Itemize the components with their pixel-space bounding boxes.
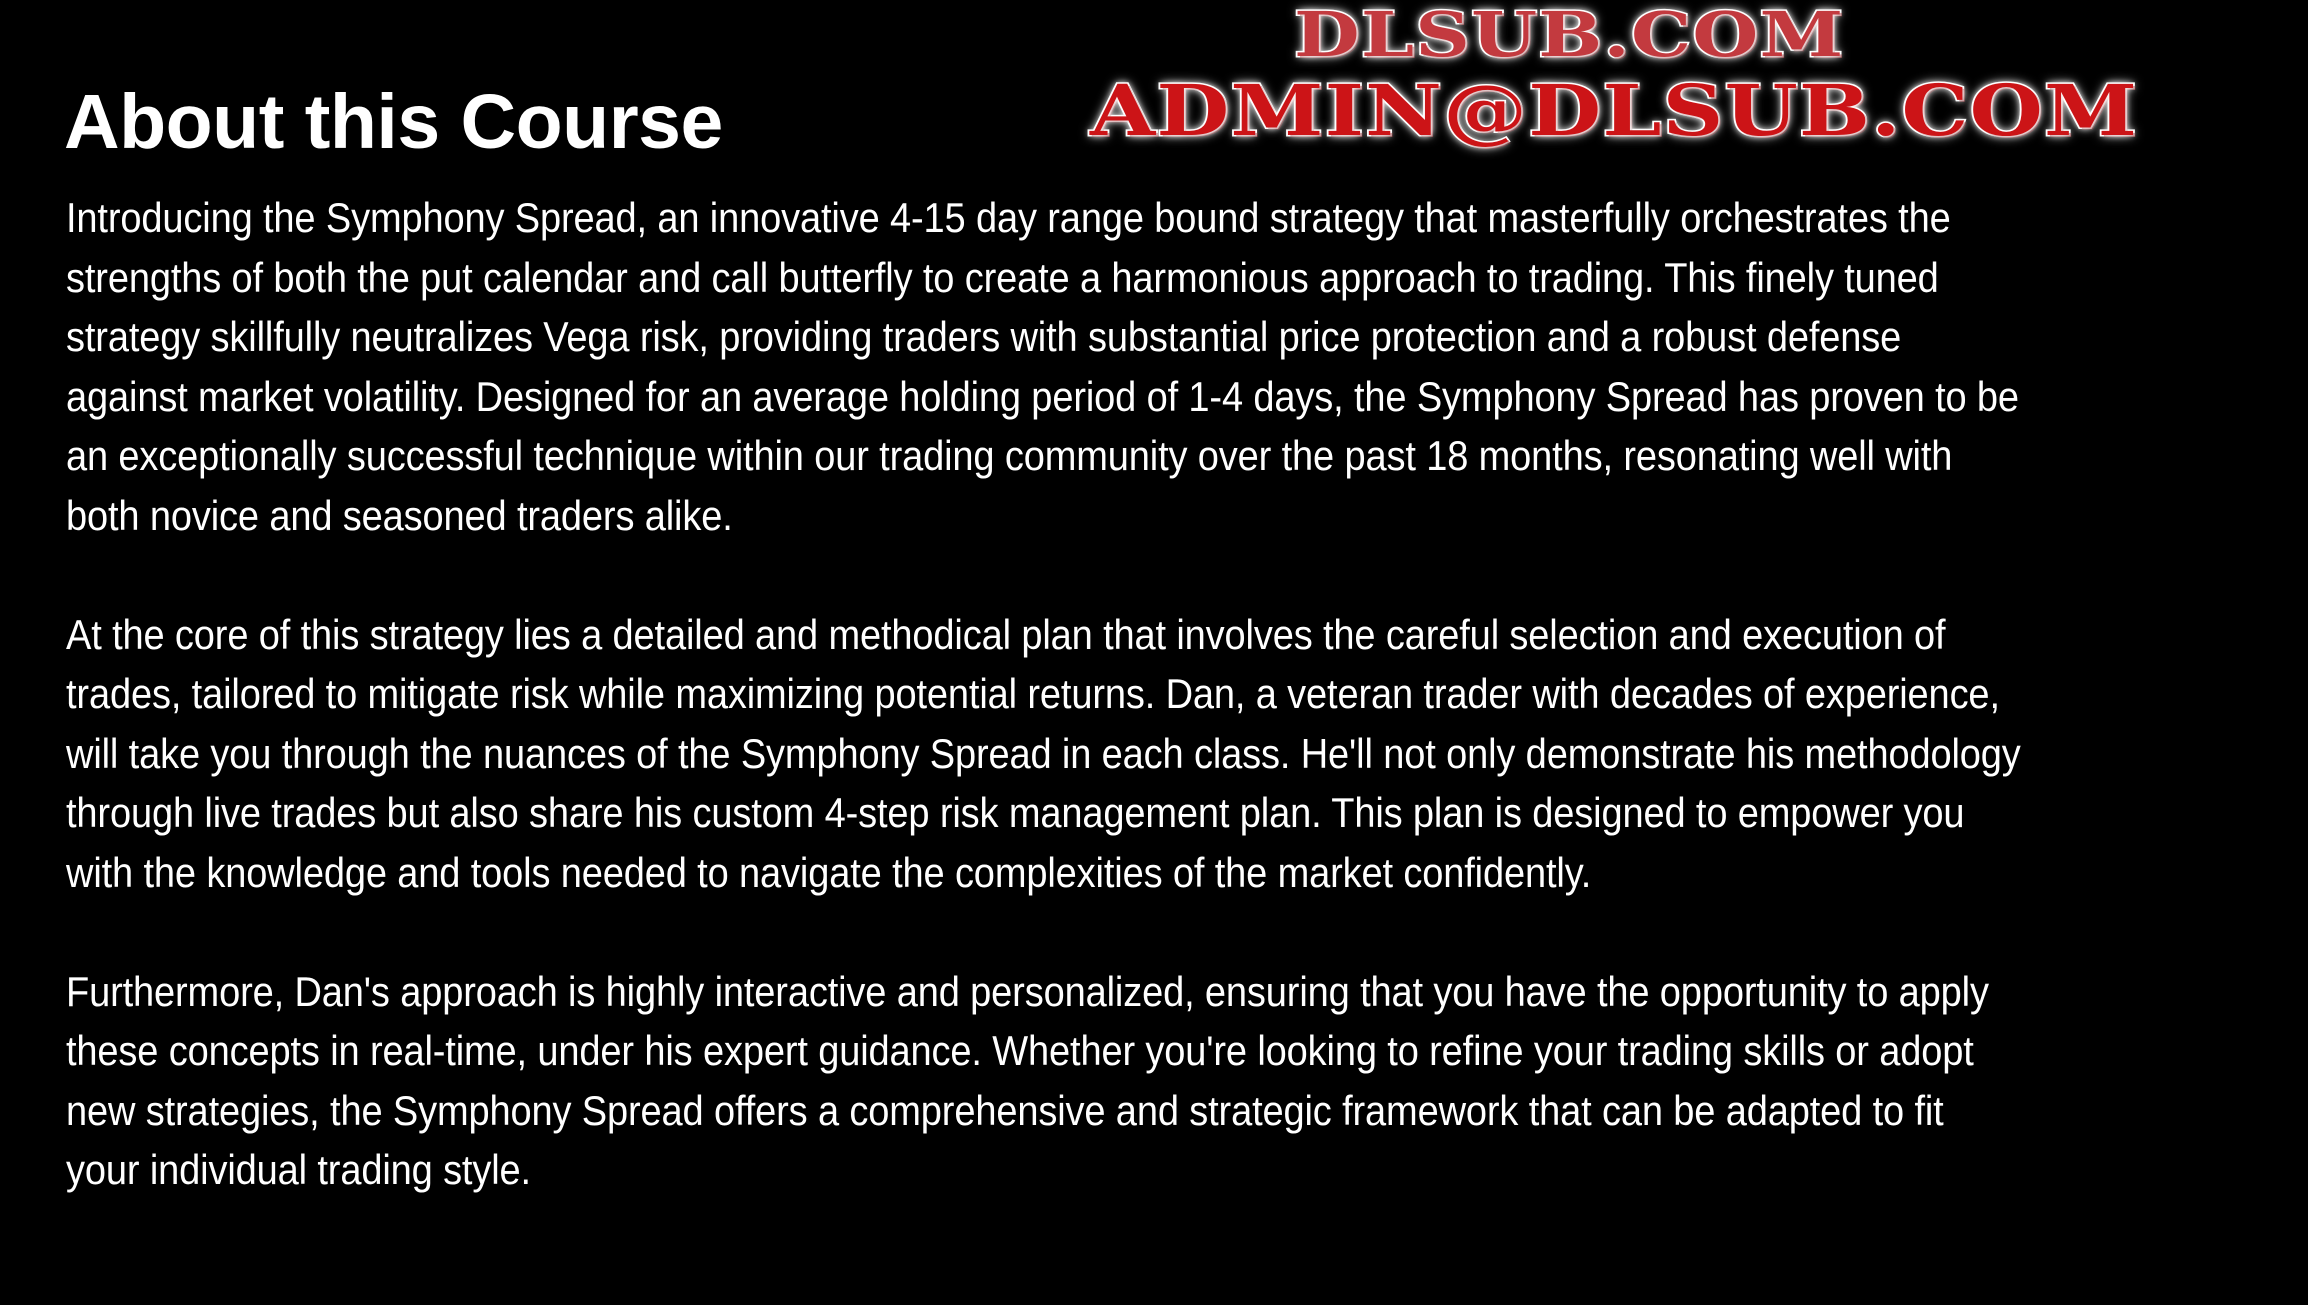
paragraph-2: At the core of this strategy lies a deta… — [66, 605, 2021, 903]
site-watermark: DLSUB.COM ADMIN@DLSUB.COM — [1090, 4, 2090, 146]
paragraph-1: Introducing the Symphony Spread, an inno… — [66, 188, 2021, 545]
paragraph-3: Furthermore, Dan's approach is highly in… — [66, 962, 2021, 1200]
watermark-site-url: DLSUB.COM — [1294, 4, 2265, 66]
page-root: About this Course Introducing the Sympho… — [0, 0, 2308, 1305]
watermark-contact-email: ADMIN@DLSUB.COM — [1090, 76, 2290, 146]
course-description: Introducing the Symphony Spread, an inno… — [66, 188, 2021, 1200]
page-title: About this Course — [64, 84, 723, 161]
